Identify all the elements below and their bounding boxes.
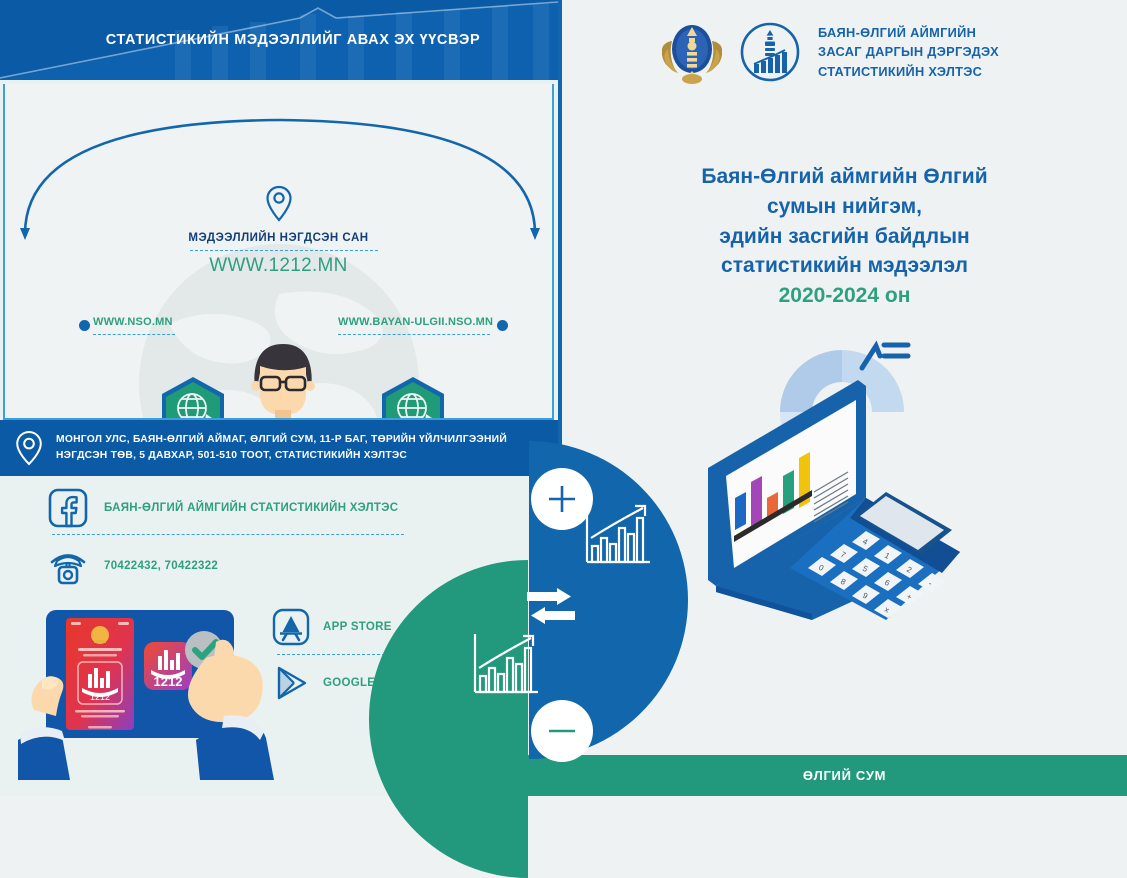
title-years: 2020-2024 он <box>562 281 1127 311</box>
left-header-bar: СТАТИСТИКИЙН МЭДЭЭЛЛИЙГ АВАХ ЭХ ҮҮСВЭР <box>0 0 558 80</box>
database-divider <box>190 250 378 251</box>
state-emblem-icon <box>662 19 722 85</box>
growth-chart-icon-green <box>470 630 542 702</box>
svg-text:1212: 1212 <box>154 674 183 689</box>
businessman-illustration <box>203 334 363 420</box>
web-hexagon-badge-right-icon: WWW <box>370 372 456 420</box>
phone-numbers: 70422432, 70422322 <box>104 560 218 572</box>
address-pin-icon <box>14 430 44 466</box>
google-play-icon <box>272 664 310 702</box>
phone-contact-row[interactable]: 70422432, 70422322 <box>48 546 218 586</box>
info-card: МЭДЭЭЛЛИЙН НЭГДСЭН САН WWW.1212.MN WWW.N… <box>3 84 554 420</box>
facebook-contact-row[interactable]: БАЯН-ӨЛГИЙ АЙМГИЙН СТАТИСТИКИЙН ХЭЛТЭС <box>48 488 398 528</box>
title-line-4: статистикийн мэдээлэл <box>562 251 1127 281</box>
org-line-1: БАЯН-ӨЛГИЙ АЙМГИЙН <box>818 23 999 42</box>
contacts-divider <box>52 534 404 535</box>
phone-app-illustration: 1212 1212 <box>18 600 274 780</box>
bottom-banner: ӨЛГИЙ СУМ <box>562 755 1127 796</box>
minus-icon <box>545 714 579 748</box>
app-store-row[interactable]: APP STORE <box>272 608 392 646</box>
title-line-2: сумын нийгэм, <box>562 192 1127 222</box>
plus-icon <box>545 482 579 516</box>
app-store-icon <box>272 608 310 646</box>
left-header-title: СТАТИСТИКИЙН МЭДЭЭЛЛИЙГ АВАХ ЭХ ҮҮСВЭР <box>0 0 558 80</box>
statistics-department-logo-icon <box>740 22 800 82</box>
organization-header: БАЯН-ӨЛГИЙ АЙМГИЙН ЗАСАГ ДАРГЫН ДЭРГЭДЭХ… <box>562 0 1127 104</box>
url-bayan-ulgii[interactable]: WWW.BAYAN-ULGII.NSO.MN <box>338 316 493 328</box>
laptop-calculator-illustration: 0 7 4 8 5 1 9 6 2 x + - <box>690 330 990 620</box>
organization-name: БАЯН-ӨЛГИЙ АЙМГИЙН ЗАСАГ ДАРГЫН ДЭРГЭДЭХ… <box>818 23 999 81</box>
address-band: МОНГОЛ УЛС, БАЯН-ӨЛГИЙ АЙМАГ, ӨЛГИЙ СУМ,… <box>0 420 558 476</box>
telephone-icon <box>48 546 88 586</box>
location-pin-icon <box>264 184 294 224</box>
title-line-3: эдийн засгийн байдлын <box>562 222 1127 252</box>
url-nso[interactable]: WWW.NSO.MN <box>93 316 173 328</box>
address-line-1: МОНГОЛ УЛС, БАЯН-ӨЛГИЙ АЙМАГ, ӨЛГИЙ СУМ,… <box>56 432 507 448</box>
exchange-arrows-icon <box>527 588 575 628</box>
database-label: МЭДЭЭЛЛИЙН НЭГДСЭН САН <box>5 232 552 244</box>
title-line-1: Баян-Өлгий аймгийн Өлгий <box>562 162 1127 192</box>
facebook-icon <box>48 488 88 528</box>
store-divider <box>277 654 395 655</box>
facebook-page-name: БАЯН-ӨЛГИЙ АЙМГИЙН СТАТИСТИКИЙН ХЭЛТЭС <box>104 502 398 514</box>
growth-chart-icon-blue <box>582 500 654 572</box>
address-line-2: НЭГДСЭН ТӨВ, 5 ДАВХАР, 501-510 ТООТ, СТА… <box>56 448 507 464</box>
svg-text:1212: 1212 <box>90 692 110 702</box>
main-title: Баян-Өлгий аймгийн Өлгий сумын нийгэм, э… <box>562 162 1127 311</box>
minus-badge <box>531 700 593 762</box>
right-url-dot <box>497 320 508 331</box>
infographic-page: СТАТИСТИКИЙН МЭДЭЭЛЛИЙГ АВАХ ЭХ ҮҮСВЭР <box>0 0 1127 796</box>
address-text: МОНГОЛ УЛС, БАЯН-ӨЛГИЙ АЙМАГ, ӨЛГИЙ СУМ,… <box>56 432 507 464</box>
url-nso-divider <box>93 334 175 335</box>
app-store-label: APP STORE <box>323 621 392 633</box>
left-url-dot <box>79 320 90 331</box>
org-line-3: СТАТИСТИКИЙН ХЭЛТЭС <box>818 62 999 81</box>
database-url[interactable]: WWW.1212.MN <box>5 255 552 277</box>
org-line-2: ЗАСАГ ДАРГЫН ДЭРГЭДЭХ <box>818 42 999 61</box>
